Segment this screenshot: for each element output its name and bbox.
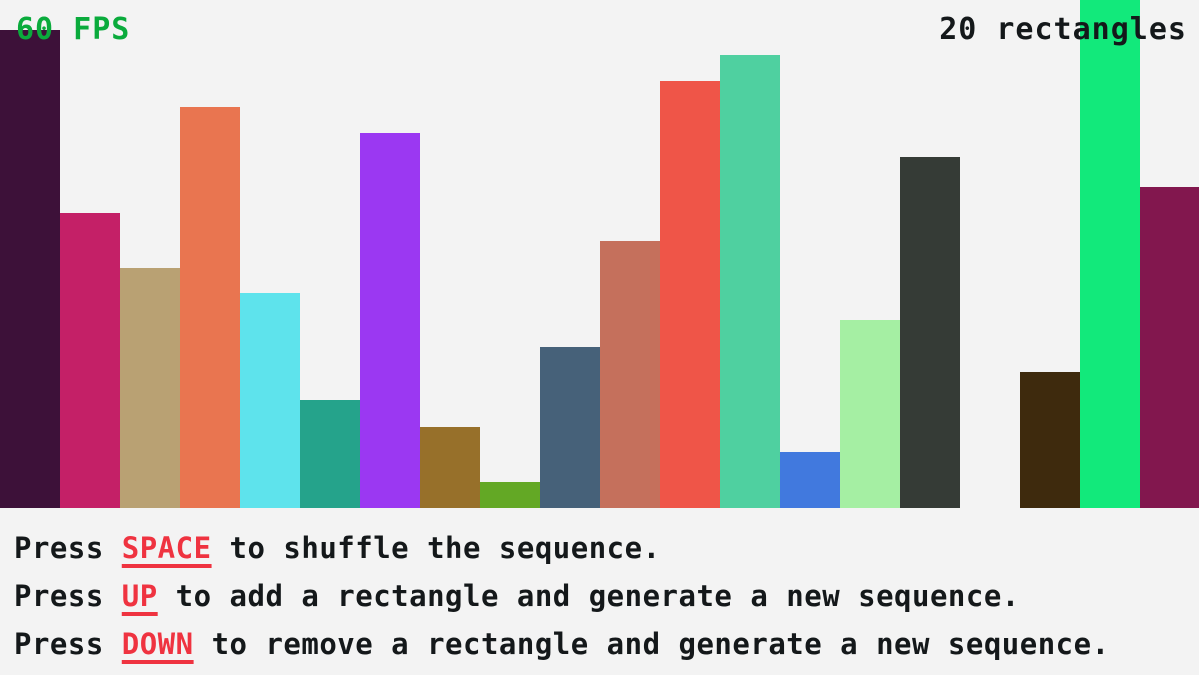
bar-6 [300,400,360,508]
instruction-prefix: Press [14,579,122,613]
bar-9 [480,482,540,508]
fps-counter: 60 FPS [16,12,130,47]
bar-1 [0,30,60,508]
key-down[interactable]: DOWN [122,627,194,661]
bar-4 [180,107,240,508]
bar-15 [840,320,900,508]
instruction-suffix: to add a rectangle and generate a new se… [158,579,1020,613]
bar-7 [360,133,420,508]
bar-19 [1080,0,1140,508]
rectangle-sequence-app: 60 FPS 20 rectangles Press SPACE to shuf… [0,0,1199,675]
bar-14 [780,452,840,508]
instruction-prefix: Press [14,531,122,565]
bar-5 [240,293,300,508]
instruction-suffix: to remove a rectangle and generate a new… [194,627,1110,661]
instructions-panel: Press SPACE to shuffle the sequence. Pre… [0,510,1199,675]
rectangle-count-label: 20 rectangles [939,12,1187,47]
bar-2 [60,213,120,508]
instruction-suffix: to shuffle the sequence. [212,531,661,565]
bar-chart-canvas [0,0,1199,510]
bar-18 [1020,372,1080,508]
instruction-prefix: Press [14,627,122,661]
instruction-line-remove: Press DOWN to remove a rectangle and gen… [14,620,1199,668]
key-space[interactable]: SPACE [122,531,212,565]
instruction-line-shuffle: Press SPACE to shuffle the sequence. [14,524,1199,572]
key-up[interactable]: UP [122,579,158,613]
bar-12 [660,81,720,508]
bar-11 [600,241,660,508]
bar-10 [540,347,600,508]
bar-20 [1140,187,1199,508]
bar-16 [900,157,960,508]
bar-8 [420,427,480,508]
bar-3 [120,268,180,508]
bar-13 [720,55,780,508]
instruction-line-add: Press UP to add a rectangle and generate… [14,572,1199,620]
